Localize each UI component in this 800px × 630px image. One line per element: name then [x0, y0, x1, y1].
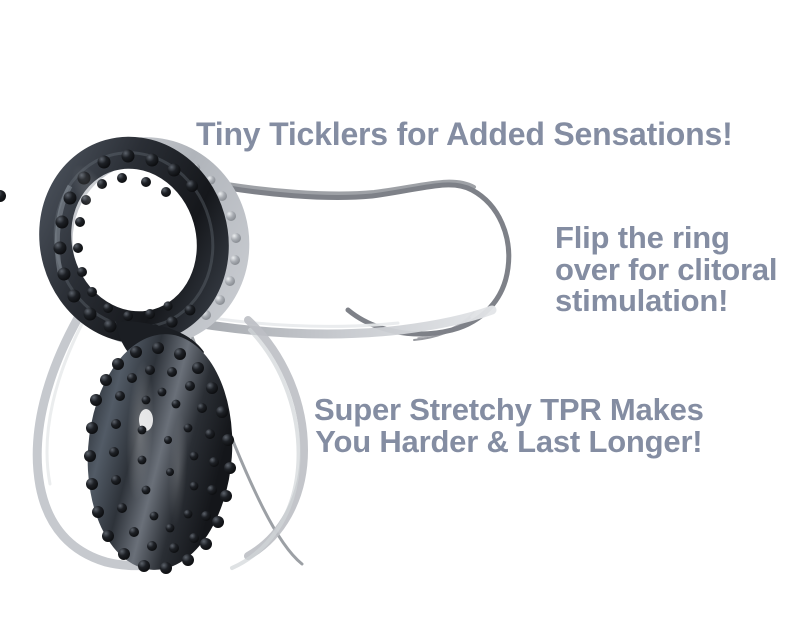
- headline-tiny-ticklers: Tiny Ticklers for Added Sensations!: [196, 118, 733, 151]
- product-marketing-image: Tiny Ticklers for Added Sensations! Flip…: [0, 0, 800, 630]
- callout-super-stretchy-tpr: Super Stretchy TPR Makes You Harder & La…: [314, 394, 704, 457]
- right-stretch-ribbon: [232, 320, 304, 568]
- nubbed-bulb: [80, 329, 240, 574]
- tickler-ring: [0, 129, 258, 354]
- callout-flip-the-ring: Flip the ring over for clitoral stimulat…: [555, 222, 777, 317]
